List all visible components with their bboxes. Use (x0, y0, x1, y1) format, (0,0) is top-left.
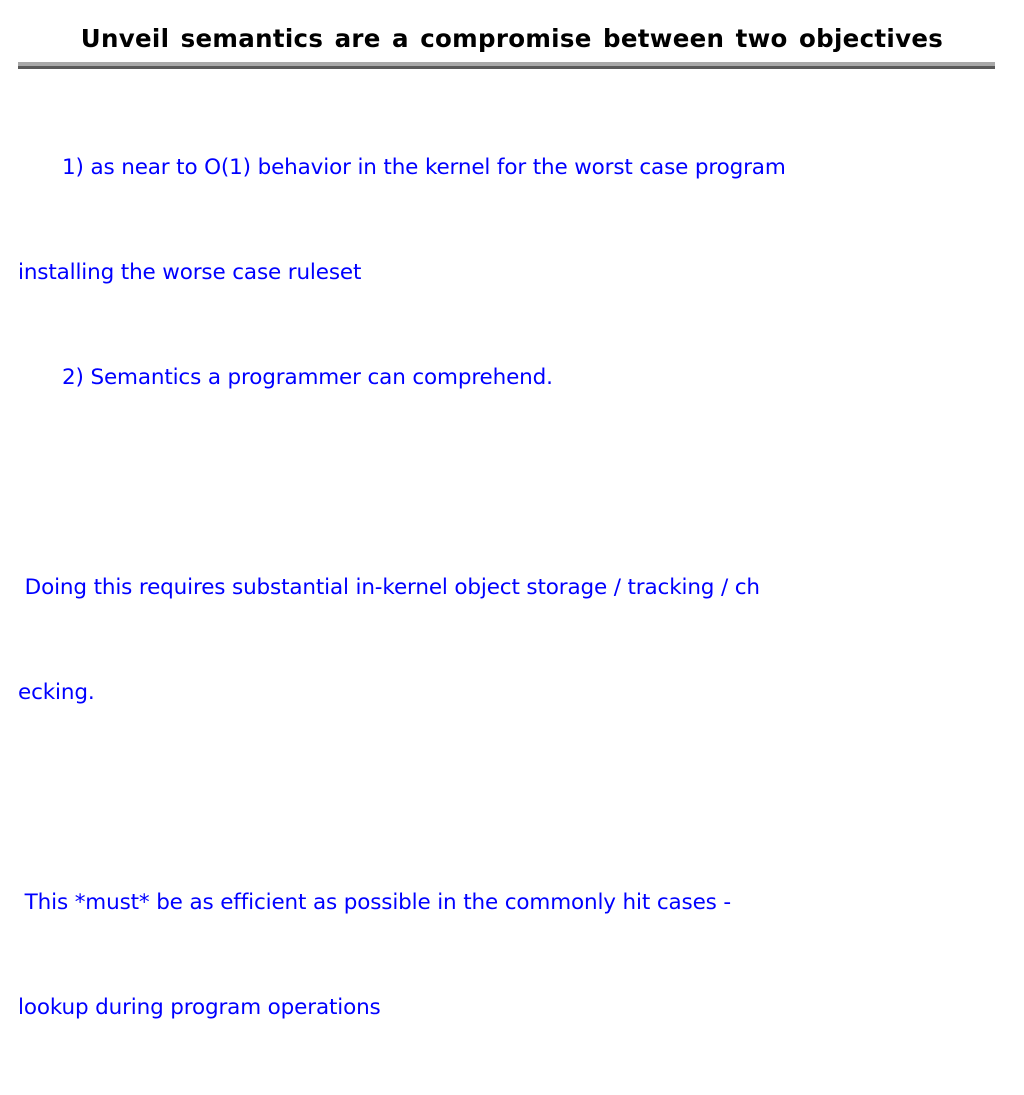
body-block-objectives: 1) as near to O(1) behavior in the kerne… (18, 80, 1008, 465)
body-block-efficiency: This *must* be as efficient as possible … (18, 815, 1008, 1095)
body-block-kernel-storage: Doing this requires substantial in-kerne… (18, 500, 1008, 780)
title-divider-rule (18, 62, 995, 69)
body-line-text: Doing this requires substantial in-kerne… (18, 575, 760, 600)
body-line-text: 1) as near to O(1) behavior in the kerne… (62, 155, 786, 180)
body-line-text: lookup during program operations (18, 995, 381, 1020)
body-line-text: installing the worse case ruleset (18, 260, 361, 285)
body-line: 1) as near to O(1) behavior in the kerne… (18, 150, 1008, 185)
divider-bottom-band (18, 66, 995, 69)
body-line: installing the worse case ruleset (18, 255, 1008, 290)
paragraph-spacer (18, 780, 1008, 815)
slide-canvas: Unveil semantics are a compromise betwee… (0, 0, 1024, 768)
body-line: lookup during program operations (18, 990, 1008, 1025)
body-line-text: ecking. (18, 680, 95, 705)
body-line: This *must* be as efficient as possible … (18, 885, 1008, 920)
slide-title: Unveil semantics are a compromise betwee… (0, 25, 1024, 53)
slide-body: 1) as near to O(1) behavior in the kerne… (18, 80, 1008, 1095)
body-line-text: This *must* be as efficient as possible … (18, 890, 731, 915)
body-line: Doing this requires substantial in-kerne… (18, 570, 1008, 605)
paragraph-spacer (18, 465, 1008, 500)
body-line: ecking. (18, 675, 1008, 710)
body-line-text: 2) Semantics a programmer can comprehend… (62, 365, 553, 390)
body-line: 2) Semantics a programmer can comprehend… (18, 360, 1008, 395)
